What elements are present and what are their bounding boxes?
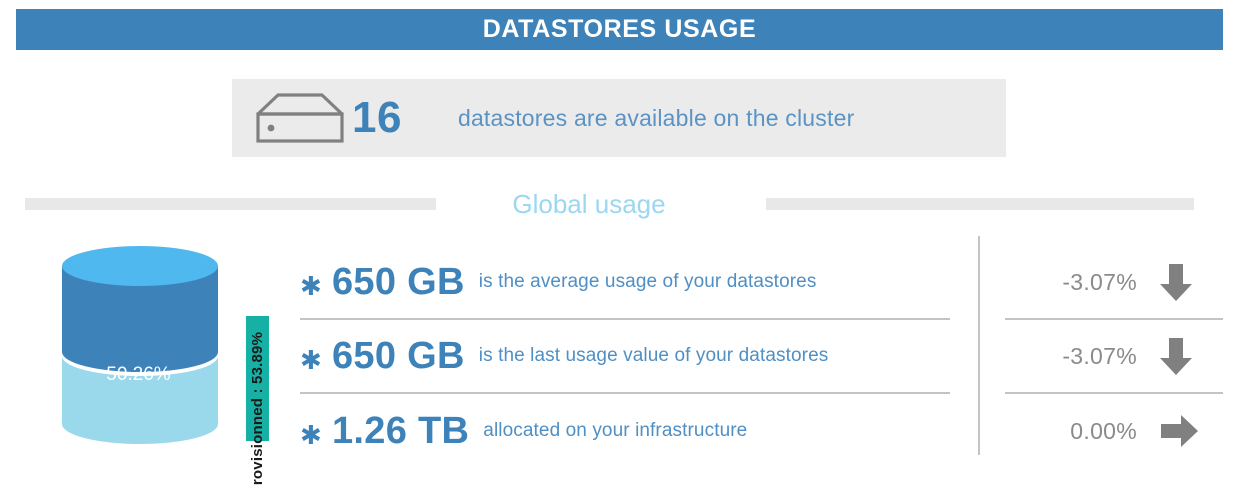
metric-row: ✱ 650 GB is the last usage value of your… [300, 320, 950, 394]
trend-percent: -3.07% [1005, 269, 1137, 296]
metric-value: 1.26 TB [332, 410, 469, 453]
asterisk-bullet-icon: ✱ [300, 414, 332, 448]
page-header-bar: DATASTORES USAGE [16, 9, 1223, 50]
usage-cylinder-gauge: 50.26% rovisionned : 53.89% [40, 238, 280, 468]
metric-description: is the last usage value of your datastor… [479, 345, 829, 367]
datastore-count-value: 16 [352, 93, 402, 143]
datastore-count-caption: datastores are available on the cluster [458, 105, 854, 132]
cylinder-used-label: 50.26% [56, 364, 221, 386]
datastore-count-panel: 16 datastores are available on the clust… [232, 79, 1006, 157]
provisioned-label-wrap: rovisionned : 53.89% [246, 313, 269, 503]
global-usage-section-header: Global usage [0, 186, 1239, 222]
trend-row: -3.07% [1005, 246, 1223, 320]
section-title: Global usage [494, 189, 684, 220]
usage-metrics-list: ✱ 650 GB is the average usage of your da… [300, 246, 950, 468]
arrow-down-icon [1159, 262, 1193, 302]
metric-row: ✱ 650 GB is the average usage of your da… [300, 246, 950, 320]
page-title: DATASTORES USAGE [483, 15, 757, 44]
trend-list: -3.07% -3.07% 0.00% [1005, 246, 1223, 468]
asterisk-bullet-icon: ✱ [300, 339, 332, 373]
trend-row: 0.00% [1005, 394, 1223, 468]
trend-row: -3.07% [1005, 320, 1223, 394]
metric-row: ✱ 1.26 TB allocated on your infrastructu… [300, 394, 950, 468]
datastore-drive-icon [252, 92, 348, 144]
metric-description: allocated on your infrastructure [483, 420, 747, 442]
asterisk-bullet-icon: ✱ [300, 265, 332, 299]
trend-percent: 0.00% [1005, 418, 1137, 445]
arrow-down-icon [1159, 336, 1193, 376]
provisioned-label: rovisionned : 53.89% [249, 331, 266, 484]
metric-value: 650 GB [332, 335, 465, 378]
vertical-divider [978, 236, 980, 455]
trend-percent: -3.07% [1005, 343, 1137, 370]
metric-description: is the average usage of your datastores [479, 271, 817, 293]
arrow-right-icon [1159, 414, 1199, 448]
section-rule-right [766, 198, 1194, 210]
metric-value: 650 GB [332, 261, 465, 304]
section-rule-left [25, 198, 436, 210]
cylinder-chart [40, 238, 240, 453]
